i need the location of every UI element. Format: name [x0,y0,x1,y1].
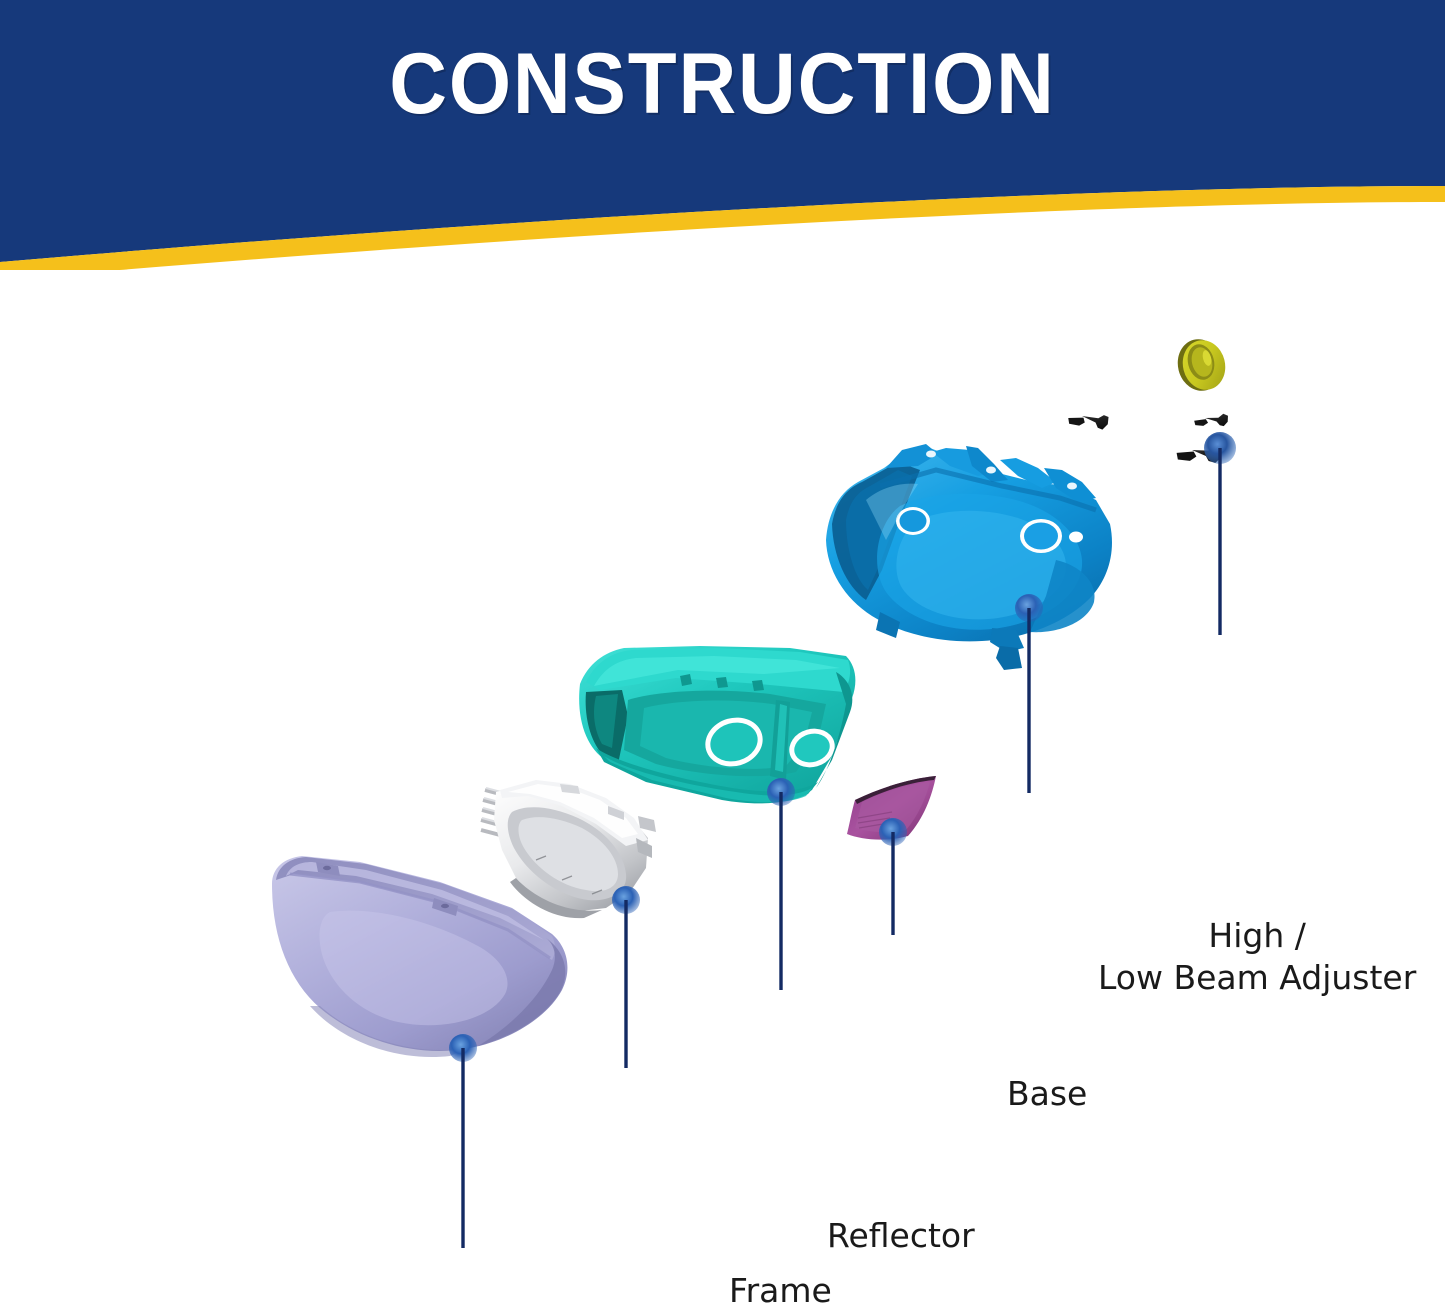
header-banner: CONSTRUCTION [0,0,1445,270]
label-frame: Frame [729,1270,832,1305]
part-base [826,444,1112,793]
label-high-low-beam-adjuster: High /Low Beam Adjuster [1098,915,1416,999]
diagram-graphics [0,270,1445,1305]
screw-part-left [1066,403,1110,437]
label-base: Base [1007,1073,1087,1115]
exploded-diagram: High /Low Beam Adjuster Base Reflector F… [0,270,1445,1305]
label-line-2: Low Beam Adjuster [1098,958,1416,997]
screw-part-upper [1193,408,1229,431]
page-root: CONSTRUCTION [0,0,1445,1305]
label-reflector: Reflector [827,1215,975,1257]
page-title: CONSTRUCTION [51,38,1395,131]
yellow-cap-part [1172,334,1230,395]
part-lampshade [272,856,567,1248]
beam-adjuster-part [1175,432,1236,471]
part-reflector [847,776,936,935]
label-line-1: High / [1208,916,1305,955]
